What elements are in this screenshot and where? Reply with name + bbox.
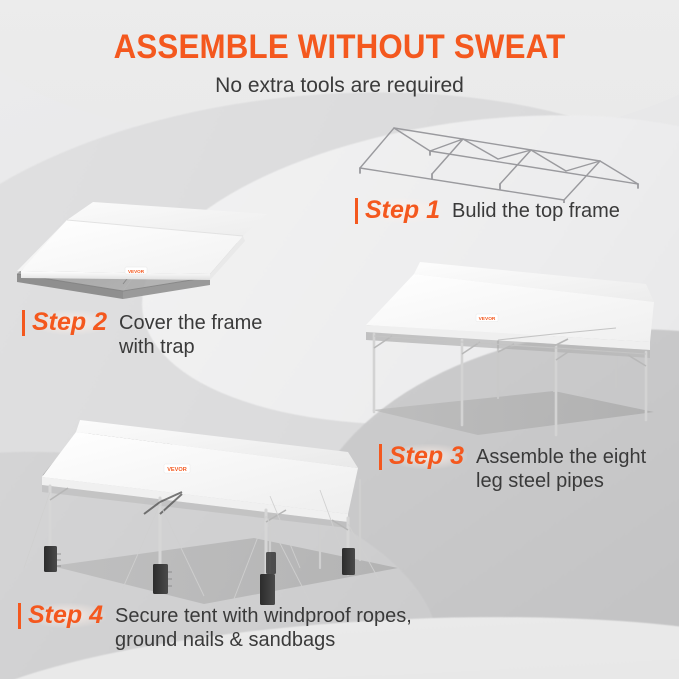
sandbag <box>44 546 61 572</box>
illustration-canopy-cover: VEVOR <box>5 190 285 310</box>
step-caption-1: Step 1 Bulid the top frame <box>355 198 620 224</box>
illustration-top-frame <box>350 118 650 203</box>
step-accent-bar-4 <box>18 603 21 629</box>
sandbag <box>260 574 275 605</box>
page-subtitle: No extra tools are required <box>0 74 679 98</box>
step-label-3: Step 3 <box>389 444 467 469</box>
step-text-1: Bulid the top frame <box>452 198 620 224</box>
step-accent-bar-2 <box>22 310 25 336</box>
vevor-logo-text: VEVOR <box>167 467 187 473</box>
step-caption-4: Step 4 Secure tent with windproof ropes,… <box>18 603 412 652</box>
step-text-4: Secure tent with windproof ropes, ground… <box>115 603 412 652</box>
infographic-poster: ASSEMBLE WITHOUT SWEAT No extra tools ar… <box>0 0 679 679</box>
step-label-4: Step 4 <box>28 603 106 628</box>
step-text-3: Assemble the eight leg steel pipes <box>476 444 646 493</box>
vevor-logo-text: VEVOR <box>128 269 145 274</box>
step-label-2: Step 2 <box>32 310 110 335</box>
page-title: ASSEMBLE WITHOUT SWEAT <box>27 28 652 67</box>
sandbag <box>342 548 355 575</box>
step-accent-bar-3 <box>379 444 382 470</box>
step-accent-bar-1 <box>355 198 358 224</box>
sandbag <box>266 552 276 574</box>
step-caption-3: Step 3 Assemble the eight leg steel pipe… <box>379 444 646 493</box>
illustration-complete-tent: VEVOR <box>18 418 408 608</box>
vevor-logo-text: VEVOR <box>479 316 496 322</box>
step-caption-2: Step 2 Cover the frame with trap <box>22 310 262 359</box>
step-label-1: Step 1 <box>365 198 443 223</box>
step-text-2: Cover the frame with trap <box>119 310 262 359</box>
